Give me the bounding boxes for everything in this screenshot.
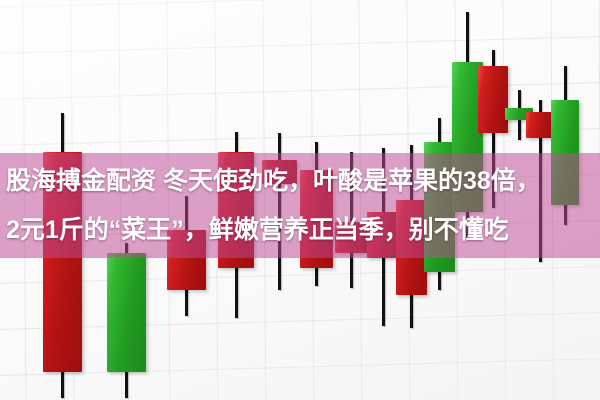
candlestick-body <box>526 112 554 138</box>
candlestick-body <box>478 66 508 133</box>
headline-line-2: 2元1斤的“菜王”，鲜嫩营养正当季，别不懂吃 <box>6 206 509 255</box>
candlestick-chart-image: 股海搏金配资 冬天使劲吃，叶酸是苹果的38倍， 2元1斤的“菜王”，鲜嫩营养正当… <box>0 0 600 400</box>
candlestick-body <box>107 253 146 372</box>
headline-line-1: 股海搏金配资 冬天使劲吃，叶酸是苹果的38倍， <box>6 157 541 206</box>
headline-text-block: 股海搏金配资 冬天使劲吃，叶酸是苹果的38倍， 2元1斤的“菜王”，鲜嫩营养正当… <box>0 153 600 258</box>
